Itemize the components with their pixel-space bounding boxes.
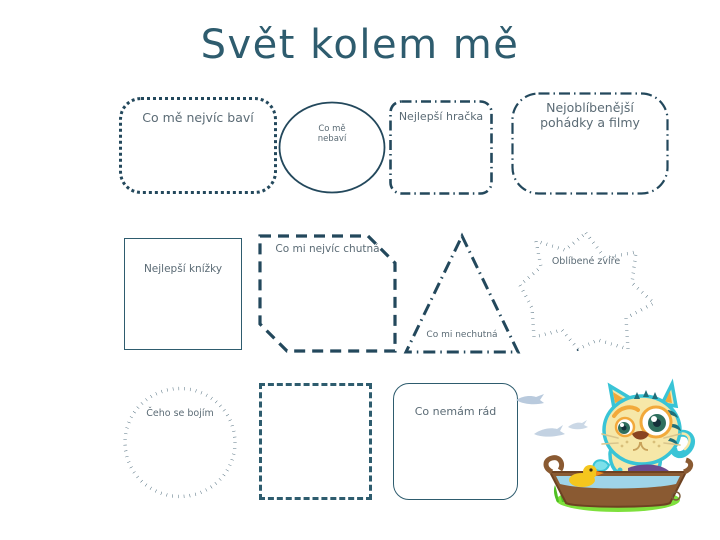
cut-corner-rectangle-icon xyxy=(258,234,397,353)
cat-in-washtub-icon xyxy=(510,372,720,517)
field-oblibene-zvire[interactable]: Oblíbené zvíře xyxy=(518,230,654,352)
field-label-nejlepsi-knizky: Nejlepší knížky xyxy=(125,263,241,275)
worksheet-page: Svět kolem mě Co mě nejvíc baví Co mě ne… xyxy=(0,0,720,540)
field-co-me-nejvic-bavi[interactable]: Co mě nejvíc baví xyxy=(119,97,277,194)
triangle-outline-icon xyxy=(404,234,520,354)
field-co-nemam-rad[interactable]: Co nemám rád xyxy=(393,383,518,500)
bird-icon xyxy=(568,420,588,429)
field-nejlepsi-knizky[interactable]: Nejlepší knížky xyxy=(124,238,242,350)
field-co-mi-nejvic-chutna[interactable]: Co mi nejvíc chutná xyxy=(258,234,397,353)
bird-icon xyxy=(516,394,544,404)
dash-dot-rounded-rect-icon xyxy=(511,92,669,195)
seven-point-star-icon xyxy=(518,230,654,352)
tub-handle-left xyxy=(546,458,562,472)
tub-handle-right xyxy=(684,460,691,472)
field-co-me-nebavi[interactable]: Co mě nebaví xyxy=(278,101,386,194)
field-label-co-me-nejvic-bavi: Co mě nejvíc baví xyxy=(122,111,274,126)
field-label-co-nemam-rad: Co nemám rád xyxy=(394,406,517,419)
cartoon-cat-in-washtub-illustration xyxy=(510,372,720,517)
field-ceho-se-bojim[interactable]: Čeho se bojím xyxy=(123,386,237,499)
cat-head xyxy=(602,384,681,464)
field-nejlepsi-hracka[interactable]: Nejlepší hračka xyxy=(389,100,493,195)
dash-dot-rounded-rect-icon xyxy=(389,100,493,195)
field-blank-dashed-square[interactable] xyxy=(259,383,372,500)
bird-icon xyxy=(534,425,565,437)
ellipse-outline-icon xyxy=(278,101,386,194)
dotted-ellipse-icon xyxy=(123,386,237,499)
field-co-mi-nechutna[interactable]: Co mi nechutná xyxy=(404,234,520,354)
page-title: Svět kolem mě xyxy=(0,22,720,68)
field-nejoblibenejsi-pohadky-a-filmy[interactable]: Nejoblíbenější pohádky a filmy xyxy=(511,92,669,195)
